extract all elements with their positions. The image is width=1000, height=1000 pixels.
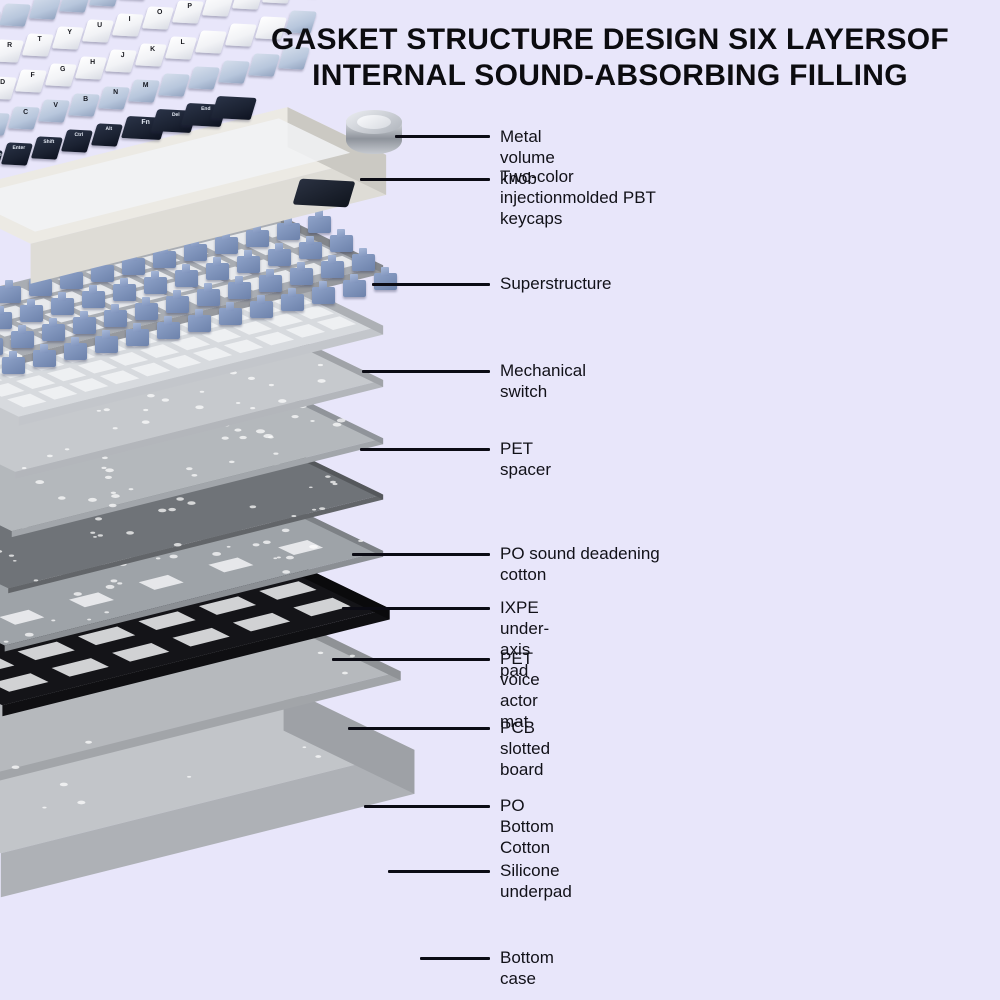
leader-line <box>395 135 490 138</box>
keycap: T <box>22 33 54 56</box>
keycap <box>59 0 91 13</box>
keycap-legend: Enter <box>6 145 32 151</box>
page-title: GASKET STRUCTURE DESIGN SIX LAYERSOF INT… <box>230 22 990 94</box>
keycap <box>89 0 121 6</box>
keycap <box>202 0 234 17</box>
keycap-legend: B <box>73 96 99 103</box>
title-line-1: GASKET STRUCTURE DESIGN SIX LAYERSOF <box>230 22 990 58</box>
leader-line <box>388 870 490 873</box>
keycap: D <box>0 76 17 99</box>
keycap: K <box>135 43 167 66</box>
keycap-legend: Ctrl <box>66 132 92 138</box>
keycap: J <box>105 50 137 73</box>
keycap: M <box>128 80 160 103</box>
keycap-legend: U <box>87 22 113 29</box>
keycap <box>211 96 257 120</box>
keycap-legend: O <box>147 9 173 16</box>
callout-label: PO sound deadening cotton <box>500 543 715 585</box>
callout-label: PO Bottom Cotton <box>500 795 554 858</box>
keycap-legend: H <box>80 59 106 66</box>
keycap-legend: I <box>117 16 143 23</box>
leader-line <box>342 607 490 610</box>
keycap-legend: N <box>103 89 129 96</box>
keycap <box>158 73 190 96</box>
keycap: P <box>172 0 204 23</box>
keycap: Alt <box>91 123 123 146</box>
keycap-legend: V <box>43 102 69 109</box>
leader-line <box>364 805 490 808</box>
keycap <box>262 0 294 3</box>
keycap-legend: Backspace <box>0 152 2 158</box>
keycap: Ctrl <box>61 130 93 153</box>
leader-line <box>348 727 490 730</box>
keycap <box>188 67 220 90</box>
keycap <box>29 0 61 20</box>
keycap: Shift <box>31 136 63 159</box>
keycap: I <box>112 13 144 36</box>
oled-display <box>292 179 355 208</box>
keycap-legend: G <box>50 66 76 73</box>
keycap-legend: J <box>110 52 136 59</box>
keycap-legend: Shift <box>36 139 62 145</box>
keycap-legend: T <box>27 36 53 43</box>
keycap: Enter <box>1 143 33 166</box>
keycap: O <box>142 7 174 30</box>
keycap: R <box>0 40 24 63</box>
callout-label: PET spacer <box>500 438 551 480</box>
keycap: V <box>38 100 70 123</box>
keycap: C <box>8 106 40 129</box>
keycap-legend: Alt <box>96 126 122 132</box>
keycap-legend: L <box>170 39 196 46</box>
diagram-canvas: GASKET STRUCTURE DESIGN SIX LAYERSOF INT… <box>0 0 1000 1000</box>
callout-label: PCB slotted board <box>500 717 550 780</box>
keycap: N <box>98 86 130 109</box>
leader-line <box>362 370 490 373</box>
callout-label: Two-color injectionmolded PBT keycaps <box>500 166 715 229</box>
keycap: F <box>15 70 47 93</box>
keycap: L <box>165 37 197 60</box>
callout-label: Mechanical switch <box>500 360 586 402</box>
leader-line <box>420 957 490 960</box>
leader-line <box>332 658 490 661</box>
leader-line <box>372 283 490 286</box>
keycap-legend: M <box>133 82 159 89</box>
keycap-legend: R <box>0 42 23 49</box>
keycap-legend: Y <box>57 29 83 36</box>
keycap-legend: C <box>13 109 39 116</box>
keycap: U <box>82 20 114 43</box>
keycap: G <box>45 63 77 86</box>
leader-line <box>352 553 490 556</box>
keycap: B <box>68 93 100 116</box>
keycap: H <box>75 56 107 79</box>
title-line-2: INTERNAL SOUND-ABSORBING FILLING <box>230 58 990 94</box>
callout-label: Silicone underpad <box>500 860 572 902</box>
keycap <box>232 0 264 10</box>
keycap-legend: D <box>0 79 16 86</box>
keycap-legend: X <box>0 115 9 122</box>
keycap <box>0 3 31 26</box>
leader-line <box>360 178 490 181</box>
callout-label: Superstructure <box>500 273 612 294</box>
keycap: Y <box>52 26 84 49</box>
keycap-legend: F <box>20 72 46 79</box>
callout-label: Bottom case <box>500 947 554 989</box>
keycap-legend: P <box>177 3 203 10</box>
leader-line <box>360 448 490 451</box>
keycap-legend: K <box>140 46 166 53</box>
keycap <box>195 30 227 53</box>
